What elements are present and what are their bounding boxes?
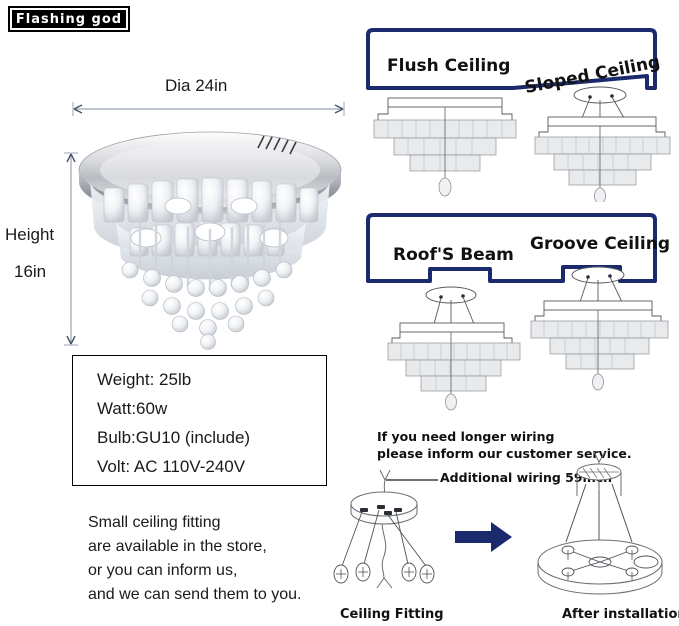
roofs-beam-diagram [386,286,526,411]
product-photo [68,118,353,350]
ceiling-fitting-caption: Ceiling Fitting [340,607,444,622]
spec-volt: Volt: AC 110V-240V [97,452,326,481]
after-installation-caption: After installation [562,607,679,622]
groove-ceiling-diagram [524,266,676,394]
after-installation-diagram [528,450,676,598]
spec-weight: Weight: 25lb [97,365,326,394]
height-value: 16in [14,262,46,282]
process-arrow-icon [455,520,513,554]
specifications-box: Weight: 25lb Watt:60w Bulb:GU10 (include… [72,355,327,486]
wiring-notice-line-1: If you need longer wiring [377,429,554,444]
roofs-beam-label: Roof'S Beam [393,245,514,265]
promo-line-1: Small ceiling fitting [88,511,301,535]
ceiling-fitting-diagram [322,468,452,594]
brand-logo: Flashing god [8,6,130,32]
promo-line-4: and we can send them to you. [88,583,301,607]
height-label: Height [5,225,54,245]
sloped-ceiling-diagram [528,86,678,202]
diameter-label: Dia 24in [165,76,227,96]
brand-logo-frame: Flashing god [10,8,128,30]
flush-ceiling-diagram [366,94,524,199]
spec-bulb: Bulb:GU10 (include) [97,423,326,452]
promo-line-2: are available in the store, [88,535,301,559]
promo-line-3: or you can inform us, [88,559,301,583]
brand-logo-text: Flashing god [16,12,122,27]
groove-ceiling-label: Groove Ceiling [530,234,670,254]
promo-text-block: Small ceiling fitting are available in t… [88,511,301,607]
flush-ceiling-label: Flush Ceiling [387,56,510,76]
spec-watt: Watt:60w [97,394,326,423]
diameter-dimension-arrow [66,100,351,118]
